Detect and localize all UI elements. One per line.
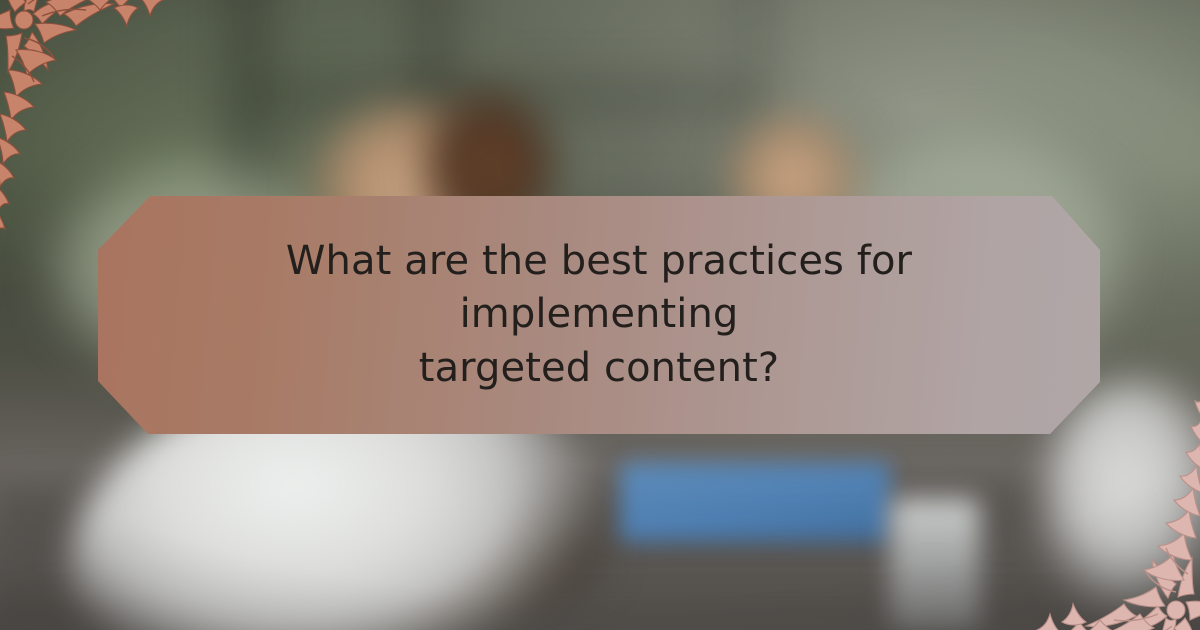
page-title: What are the best practices for implemen… xyxy=(154,235,1044,395)
headline-banner: What are the best practices for implemen… xyxy=(98,196,1100,434)
social-card: What are the best practices for implemen… xyxy=(0,0,1200,630)
headline-line-1: What are the best practices for implemen… xyxy=(286,238,912,337)
headline-line-2: targeted content? xyxy=(419,345,779,391)
